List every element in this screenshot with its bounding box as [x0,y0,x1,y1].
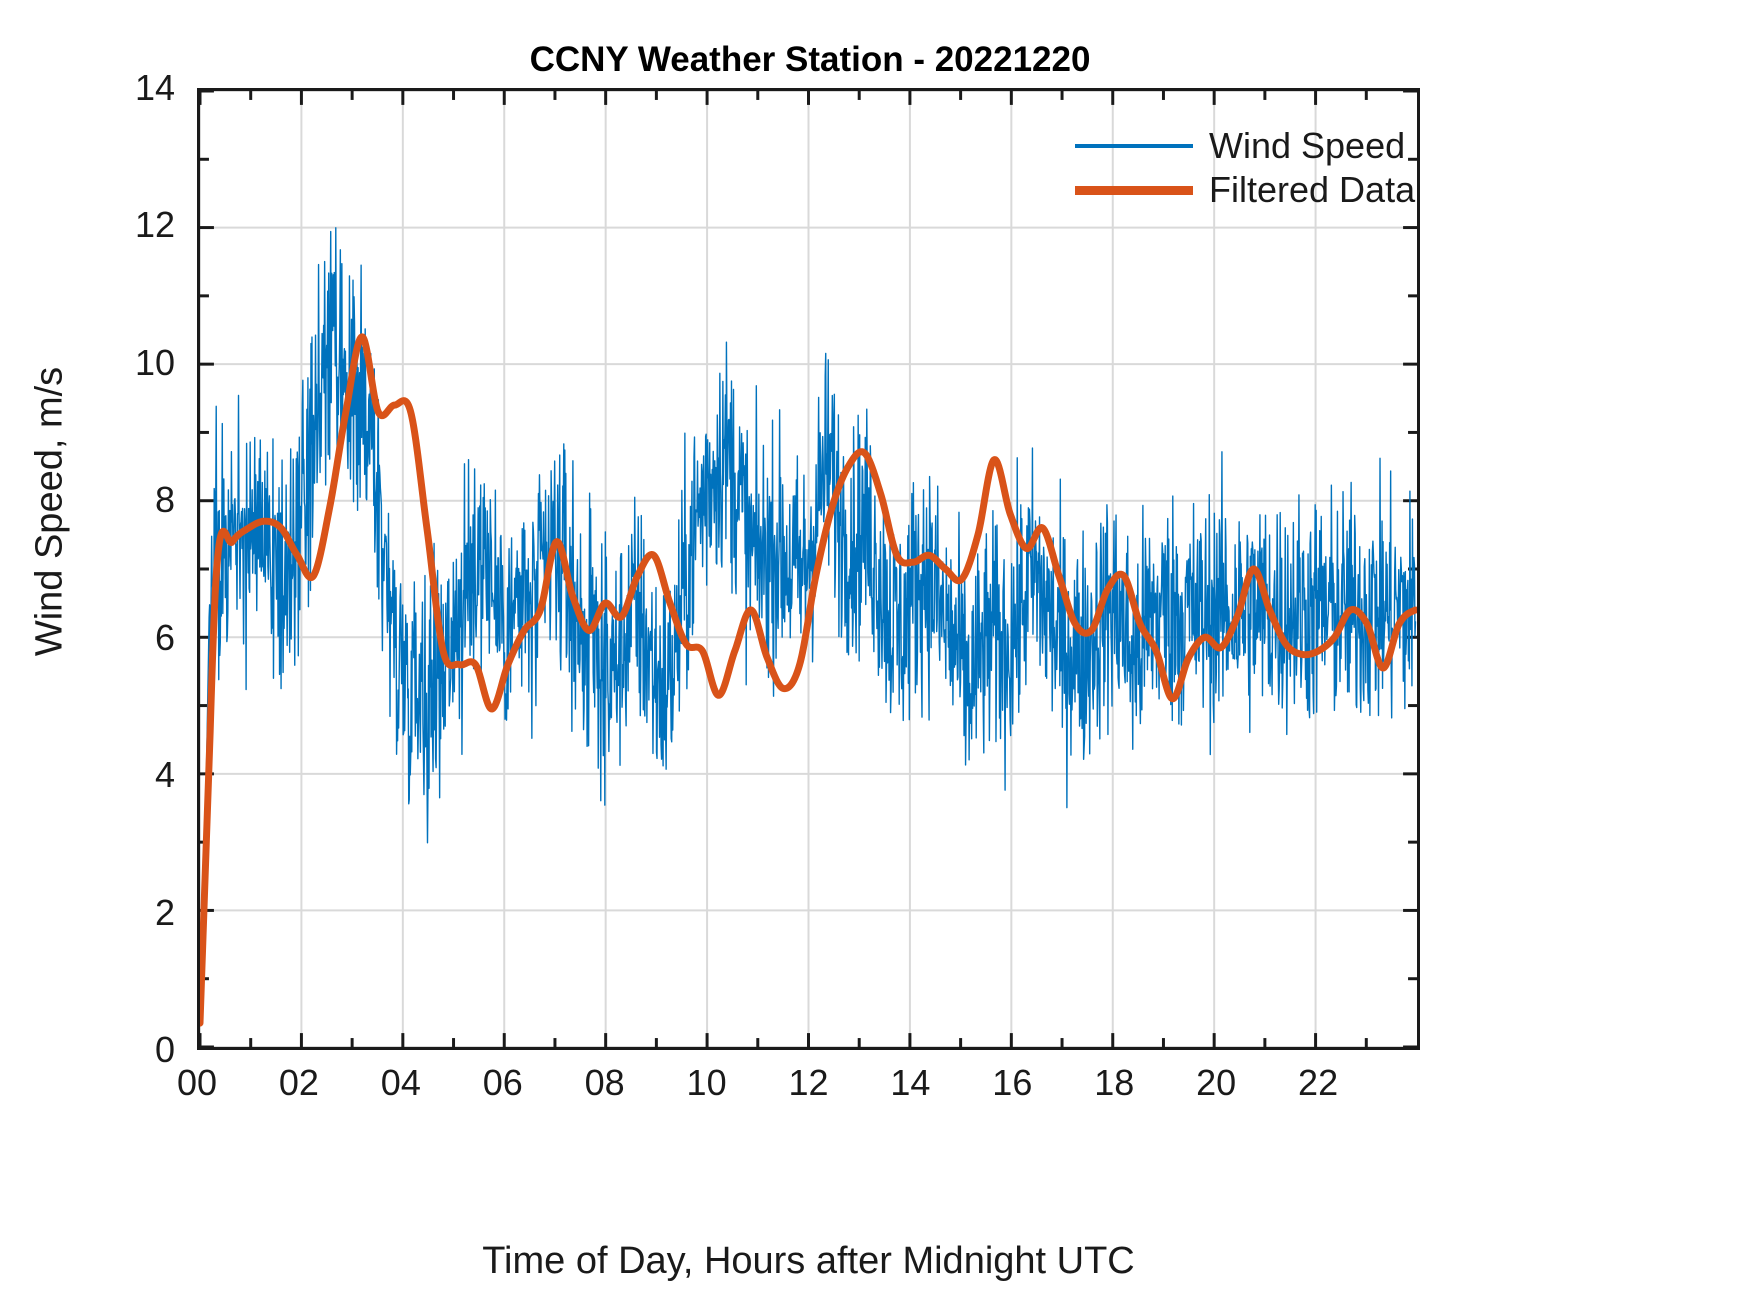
plot-area [197,88,1420,1050]
x-tick-label: 02 [279,1062,319,1104]
x-tick-label: 18 [1094,1062,1134,1104]
y-axis-label: Wind Speed, m/s [29,212,72,812]
y-tick-label: 2 [75,892,175,934]
legend-line-icon-filtered-data [1075,186,1193,195]
x-axis-label: Time of Day, Hours after Midnight UTC [197,1240,1420,1283]
y-tick-label: 0 [75,1029,175,1071]
x-tick-label: 22 [1298,1062,1338,1104]
x-tick-label: 08 [585,1062,625,1104]
legend-item-filtered-data: Filtered Data [1075,168,1415,212]
y-tick-label: 10 [75,342,175,384]
y-tick-label: 14 [75,67,175,109]
x-tick-label: 12 [788,1062,828,1104]
x-tick-label: 00 [177,1062,217,1104]
plot-svg [200,91,1417,1047]
x-axis-tick-labels: 000204060810121416182022 [197,1062,1420,1112]
y-axis-tick-labels: 02468101214 [75,88,175,1050]
x-tick-label: 10 [687,1062,727,1104]
chart-title: CCNY Weather Station - 20221220 [0,40,1620,80]
y-tick-label: 8 [75,479,175,521]
legend-line-icon-wind-speed [1075,144,1193,148]
y-tick-label: 12 [75,204,175,246]
x-tick-label: 14 [890,1062,930,1104]
chart-figure: CCNY Weather Station - 20221220 Wind Spe… [0,0,1750,1313]
y-tick-label: 6 [75,617,175,659]
chart-legend: Wind Speed Filtered Data [1075,118,1415,218]
y-tick-label: 4 [75,754,175,796]
x-tick-label: 04 [381,1062,421,1104]
x-tick-label: 20 [1196,1062,1236,1104]
legend-label-wind-speed: Wind Speed [1209,125,1405,167]
x-tick-label: 16 [992,1062,1032,1104]
legend-label-filtered-data: Filtered Data [1209,169,1415,211]
x-tick-label: 06 [483,1062,523,1104]
legend-item-wind-speed: Wind Speed [1075,124,1415,168]
